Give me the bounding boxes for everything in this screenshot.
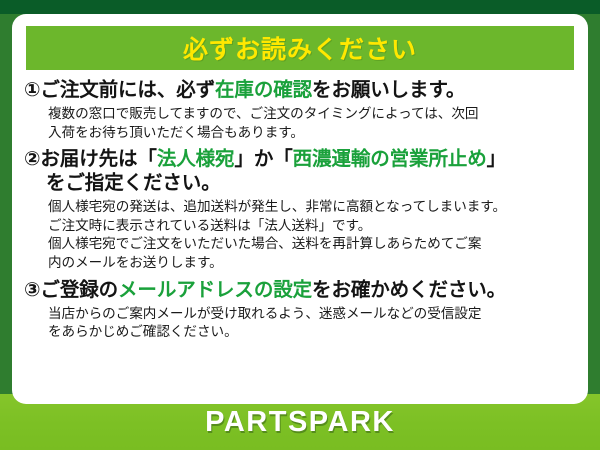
notice-item-heading: ③ご登録のメールアドレスの設定をお確かめください。 [24,279,576,303]
notice-item-body-line: 個人様宅宛でご注文をいただいた場合、送料を再計算しあらためてご案 [48,235,576,254]
notice-item: ③ご登録のメールアドレスの設定をお確かめください。当店からのご案内メールが受け取… [24,279,576,342]
notice-item-body-line: 当店からのご案内メールが受け取れるよう、迷惑メールなどの受信設定 [48,305,576,324]
notice-banner: 必ずお読みください ①ご注文前には、必ず在庫の確認をお願いします。複数の窓口で販… [0,0,600,450]
notice-item: ①ご注文前には、必ず在庫の確認をお願いします。複数の窓口で販売してますので、ご注… [24,79,576,142]
notice-item-heading-line2: をご指定ください。 [24,172,576,196]
notice-item-body: 個人様宅宛の発送は、追加送料が発生し、非常に高額となってしまいます。ご注文時に表… [24,198,576,273]
heading-text: をお確かめください。 [312,279,506,301]
notice-item-body-line: 個人様宅宛の発送は、追加送料が発生し、非常に高額となってしまいます。 [48,198,576,217]
notice-item-body-line: 複数の窓口で販売してますので、ご注文のタイミングによっては、次回 [48,105,576,124]
notice-panel: 必ずお読みください ①ご注文前には、必ず在庫の確認をお願いします。複数の窓口で販… [12,14,588,404]
item-number-icon: ③ [24,279,40,301]
brand-name: PARTSPARK [205,406,395,439]
heading-highlight: メールアドレスの設定 [118,279,312,301]
notice-item-body-line: 内のメールをお送りします。 [48,254,576,273]
notice-item-body: 当店からのご案内メールが受け取れるよう、迷惑メールなどの受信設定をあらかじめご確… [24,305,576,343]
notice-item-body: 複数の窓口で販売してますので、ご注文のタイミングによっては、次回入荷をお待ち頂い… [24,105,576,143]
banner-title: 必ずお読みください [183,30,417,66]
heading-text: 」 [487,148,506,170]
notice-item: ②お届け先は「法人様宛」か「西濃運輸の営業所止め」をご指定ください。個人様宅宛の… [24,148,576,273]
heading-text: をお願いします。 [312,79,465,101]
footer-logo: PARTSPARK [0,394,600,450]
notice-item-body-line: をあらかじめご確認ください。 [48,323,576,342]
heading-text: ご注文前には、必ず [40,79,215,101]
item-number-icon: ① [24,79,40,101]
notice-item-heading: ①ご注文前には、必ず在庫の確認をお願いします。 [24,79,576,103]
heading-highlight: 西濃運輸の営業所止め [293,148,487,170]
heading-highlight: 法人様宛 [157,148,235,170]
heading-text: お届け先は「 [40,148,156,170]
item-number-icon: ② [24,148,40,170]
notice-items: ①ご注文前には、必ず在庫の確認をお願いします。複数の窓口で販売してますので、ご注… [24,79,576,342]
heading-text: 」か「 [234,148,292,170]
notice-item-body-line: ご注文時に表示されている送料は「法人送料」です。 [48,217,576,236]
heading-highlight: 在庫の確認 [215,79,312,101]
heading-text: ご登録の [40,279,118,301]
title-bar: 必ずお読みください [26,26,574,70]
notice-item-body-line: 入荷をお待ち頂いただく場合もあります。 [48,124,576,143]
notice-item-heading: ②お届け先は「法人様宛」か「西濃運輸の営業所止め」 [24,148,576,172]
